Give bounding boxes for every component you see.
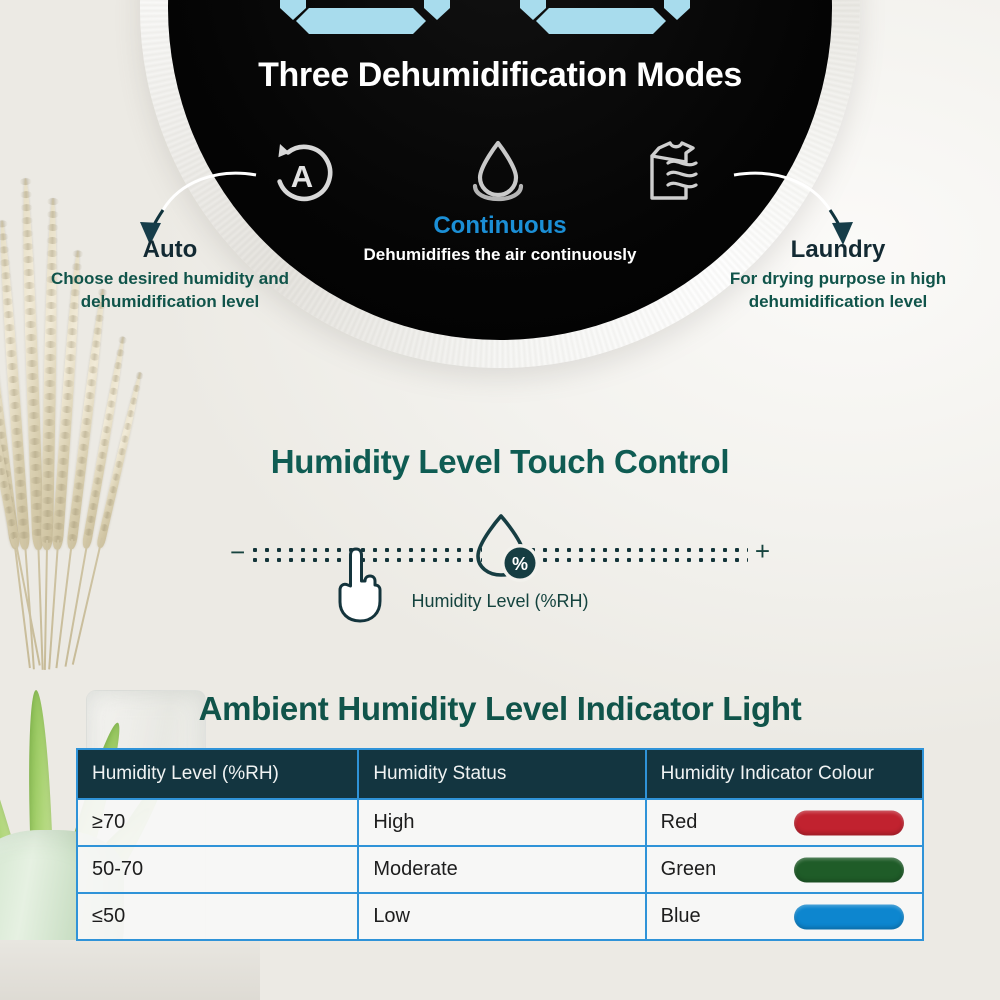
column-header-level: Humidity Level (%RH) bbox=[77, 749, 358, 799]
humidity-indicator-table: Humidity Level (%RH) Humidity Status Hum… bbox=[76, 748, 924, 941]
table-row: 50-70 Moderate Green bbox=[77, 846, 923, 893]
table-header-row: Humidity Level (%RH) Humidity Status Hum… bbox=[77, 749, 923, 799]
mode-block-laundry: Laundry For drying purpose in high dehum… bbox=[678, 236, 998, 314]
indicator-pill-red bbox=[794, 810, 904, 835]
percent-symbol: % bbox=[512, 554, 528, 574]
shelf-surface bbox=[0, 940, 260, 1000]
infographic-page: Three Dehumidification Modes A A bbox=[0, 0, 1000, 1000]
table-row: ≥70 High Red bbox=[77, 799, 923, 846]
mode-name-auto: Auto bbox=[10, 236, 330, 264]
section-title-touch-control: Humidity Level Touch Control bbox=[0, 443, 1000, 481]
colour-label: Blue bbox=[661, 905, 701, 928]
cell-colour: Red bbox=[646, 799, 923, 846]
cell-level: ≤50 bbox=[77, 893, 358, 940]
colour-label: Green bbox=[661, 858, 717, 881]
mode-description-auto: Choose desired humidity and dehumidifica… bbox=[10, 268, 330, 314]
mode-name-continuous: Continuous bbox=[360, 212, 640, 240]
cell-status: Low bbox=[358, 893, 645, 940]
indicator-pill-green bbox=[794, 857, 904, 882]
slider-track-right[interactable] bbox=[518, 546, 748, 566]
cell-colour: Green bbox=[646, 846, 923, 893]
table-row: ≤50 Low Blue bbox=[77, 893, 923, 940]
cell-status: High bbox=[358, 799, 645, 846]
cell-colour: Blue bbox=[646, 893, 923, 940]
mode-name-laundry: Laundry bbox=[678, 236, 998, 264]
column-header-colour: Humidity Indicator Colour bbox=[646, 749, 923, 799]
pointing-hand-cursor-icon bbox=[327, 545, 393, 625]
cell-level: ≥70 bbox=[77, 799, 358, 846]
column-header-status: Humidity Status bbox=[358, 749, 645, 799]
colour-label: Red bbox=[661, 811, 698, 834]
mode-description-laundry: For drying purpose in high dehumidificat… bbox=[678, 268, 998, 314]
cell-status: Moderate bbox=[358, 846, 645, 893]
cell-level: 50-70 bbox=[77, 846, 358, 893]
slider-decrease-icon[interactable]: − bbox=[230, 539, 245, 565]
section-title-indicator-light: Ambient Humidity Level Indicator Light bbox=[0, 690, 1000, 728]
indicator-pill-blue bbox=[794, 904, 904, 929]
humidity-droplet-percent-icon: % bbox=[470, 512, 546, 590]
slider-increase-icon[interactable]: + bbox=[755, 538, 770, 564]
mode-block-continuous: Continuous Dehumidifies the air continuo… bbox=[360, 212, 640, 267]
slider-caption: Humidity Level (%RH) bbox=[0, 591, 1000, 612]
mode-block-auto: Auto Choose desired humidity and dehumid… bbox=[10, 236, 330, 314]
mode-description-continuous: Dehumidifies the air continuously bbox=[360, 244, 640, 267]
